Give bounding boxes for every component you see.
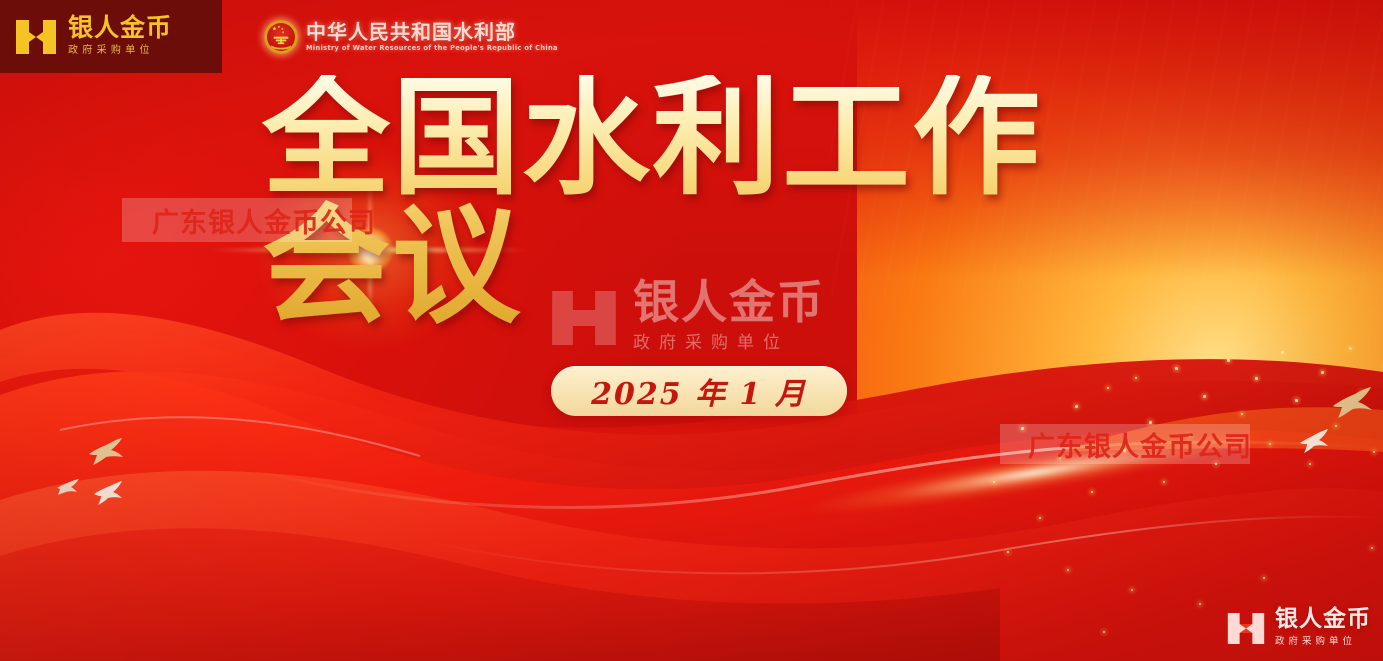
ministry-lockup[interactable]: 中华人民共和国水利部 Ministry of Water Resources o…	[264, 20, 558, 54]
china-national-emblem-icon	[264, 20, 298, 54]
footer-brand-logo[interactable]: 银人金币 政府采购单位	[1226, 608, 1371, 649]
sponsor-brand-tagline: 政府采购单位	[68, 43, 172, 58]
page-title: 全国水利工作会议	[262, 133, 1162, 273]
yinren-logo-icon	[14, 18, 58, 56]
footer-brand-name: 银人金币	[1275, 608, 1371, 631]
date-badge-text: 2025 年 1 月	[591, 369, 807, 413]
sponsor-logo-box[interactable]: 银人金币 政府采购单位	[0, 0, 222, 73]
ministry-name-en: Ministry of Water Resources of the Peopl…	[306, 45, 558, 52]
ministry-name-cn: 中华人民共和国水利部	[306, 22, 558, 42]
sponsor-brand-name: 银人金币	[68, 15, 172, 41]
page-title-text: 全国水利工作会议	[262, 75, 1162, 331]
yinren-logo-icon	[1226, 611, 1266, 646]
date-badge[interactable]: 2025 年 1 月	[551, 366, 847, 416]
footer-brand-tagline: 政府采购单位	[1275, 635, 1371, 649]
poster-canvas: 银人金币 政府采购单位 中华人民共和国水	[0, 0, 1383, 661]
